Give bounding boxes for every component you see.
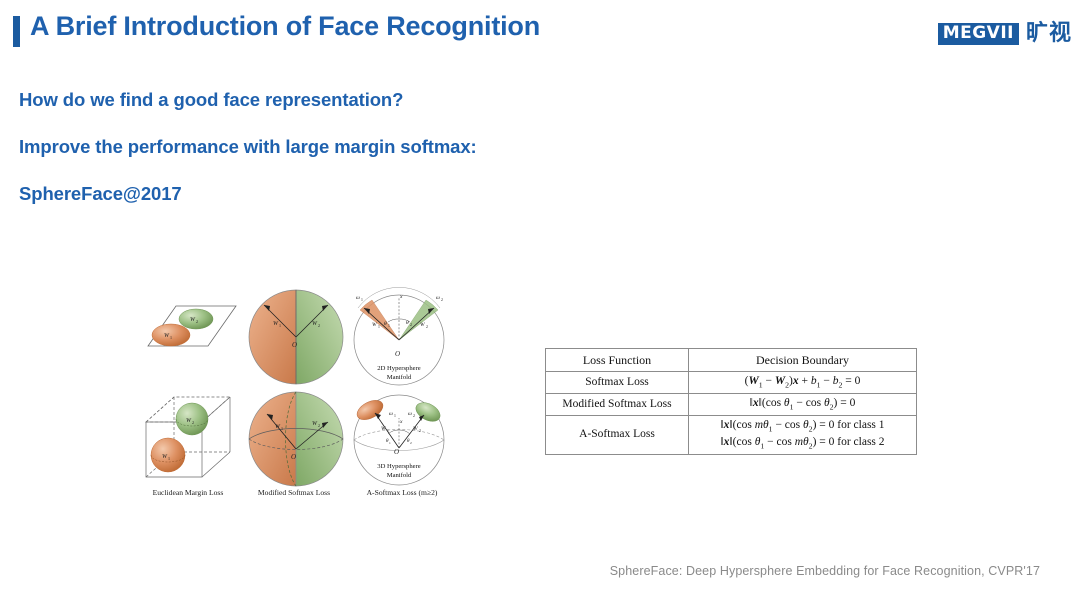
panel-euclidean-2d: W 2 W 1 <box>148 306 236 346</box>
bullet-question: How do we find a good face representatio… <box>19 89 819 111</box>
bullet-improve: Improve the performance with large margi… <box>19 136 819 158</box>
panel-asoftmax-3d: ω 1 ω 2 x W 1 W 2 θ 1 θ 2 O 3D Hypersphe… <box>354 395 444 485</box>
sphereface-figure: W 2 W 1 W 1 W 2 O <box>136 272 456 517</box>
svg-text:2: 2 <box>426 325 428 329</box>
row-softmax-loss-boundary: (W1 − W2)x + b1 − b2 = 0 <box>689 372 917 394</box>
svg-text:2: 2 <box>410 441 412 445</box>
svg-text:2: 2 <box>192 420 194 425</box>
bullet-sphereface: SphereFace@2017 <box>19 183 819 205</box>
svg-text:θ: θ <box>406 320 409 326</box>
caption-modified-softmax-loss: Modified Softmax Loss <box>240 488 348 497</box>
svg-text:W: W <box>413 426 418 432</box>
svg-text:ω: ω <box>408 411 412 417</box>
logo-wordmark: MEGVII <box>938 23 1019 45</box>
row-modified-softmax-loss-boundary: ‖x‖(cos θ1 − cos θ2) = 0 <box>689 394 917 416</box>
table-row: A-Softmax Loss ‖x‖(cos mθ1 − cos θ2) = 0… <box>546 415 917 454</box>
row-a-softmax-loss-boundary: ‖x‖(cos mθ1 − cos θ2) = 0 for class 1 ‖x… <box>689 415 917 454</box>
panel-euclidean-3d: W 2 W 1 <box>146 397 230 477</box>
svg-text:2: 2 <box>410 323 412 327</box>
svg-text:1: 1 <box>394 414 396 418</box>
svg-text:1: 1 <box>281 426 283 431</box>
svg-text:1: 1 <box>279 323 281 328</box>
loss-decision-boundary-table: Loss Function Decision Boundary Softmax … <box>545 348 917 455</box>
figure-caption-row: Euclidean Margin Loss Modified Softmax L… <box>136 488 456 497</box>
svg-text:x: x <box>399 419 403 425</box>
panel-asoftmax-2d: ω 1 ω 2 x θ 1 θ 2 W 1 W 2 O 2D Hypersphe… <box>354 287 444 385</box>
svg-text:O: O <box>291 453 296 461</box>
svg-text:2: 2 <box>318 423 320 428</box>
footer-citation: SphereFace: Deep Hypersphere Embedding f… <box>610 564 1040 578</box>
svg-text:O: O <box>292 341 297 349</box>
logo-chinese-name: 旷视 <box>1026 23 1072 45</box>
caption-euclidean-margin-loss: Euclidean Margin Loss <box>136 488 240 497</box>
svg-text:O: O <box>395 350 400 358</box>
svg-text:1: 1 <box>168 456 170 461</box>
svg-text:1: 1 <box>389 441 391 445</box>
row-softmax-loss-name: Softmax Loss <box>546 372 689 394</box>
title-accent-bar <box>13 16 20 47</box>
table-header-row: Loss Function Decision Boundary <box>546 349 917 372</box>
label-2d-hypersphere-line1: 2D Hypersphere <box>377 365 420 372</box>
row-a-softmax-loss-name: A-Softmax Loss <box>546 415 689 454</box>
label-3d-hypersphere-line2: Manifold <box>387 472 412 479</box>
svg-text:1: 1 <box>361 298 363 302</box>
panel-modified-softmax-2d: W 1 W 2 O <box>249 290 343 384</box>
svg-text:1: 1 <box>170 335 172 340</box>
svg-text:2: 2 <box>196 319 198 324</box>
svg-text:2: 2 <box>413 414 415 418</box>
svg-text:W: W <box>381 426 386 432</box>
svg-text:1: 1 <box>378 325 380 329</box>
svg-text:1: 1 <box>388 324 390 328</box>
svg-text:O: O <box>394 448 399 456</box>
figure-svg: W 2 W 1 W 1 W 2 O <box>136 272 456 487</box>
svg-text:2: 2 <box>419 429 421 433</box>
megvii-logo: MEGVII 旷视 <box>938 23 1072 45</box>
svg-text:2: 2 <box>318 323 320 328</box>
table-header-decision-boundary: Decision Boundary <box>689 349 917 372</box>
table-row: Softmax Loss (W1 − W2)x + b1 − b2 = 0 <box>546 372 917 394</box>
row-modified-softmax-loss-name: Modified Softmax Loss <box>546 394 689 416</box>
table-row: Modified Softmax Loss ‖x‖(cos θ1 − cos θ… <box>546 394 917 416</box>
caption-a-softmax-loss: A-Softmax Loss (m≥2) <box>348 488 456 497</box>
svg-text:ω: ω <box>356 295 360 301</box>
label-3d-hypersphere-line1: 3D Hypersphere <box>377 463 420 470</box>
bullet-list: How do we find a good face representatio… <box>19 89 819 230</box>
slide-header: A Brief Introduction of Face Recognition… <box>0 10 1080 56</box>
svg-text:W: W <box>372 322 377 328</box>
label-2d-hypersphere-line2: Manifold <box>387 374 412 381</box>
svg-text:2: 2 <box>441 298 443 302</box>
panel-modified-softmax-3d: W 1 W 2 O <box>249 392 343 486</box>
svg-text:x: x <box>399 294 403 300</box>
svg-text:1: 1 <box>387 429 389 433</box>
table-header-loss-function: Loss Function <box>546 349 689 372</box>
svg-text:θ: θ <box>384 321 387 327</box>
svg-text:W: W <box>420 322 425 328</box>
svg-text:ω: ω <box>389 411 393 417</box>
svg-text:ω: ω <box>436 295 440 301</box>
page-title: A Brief Introduction of Face Recognition <box>30 11 540 42</box>
